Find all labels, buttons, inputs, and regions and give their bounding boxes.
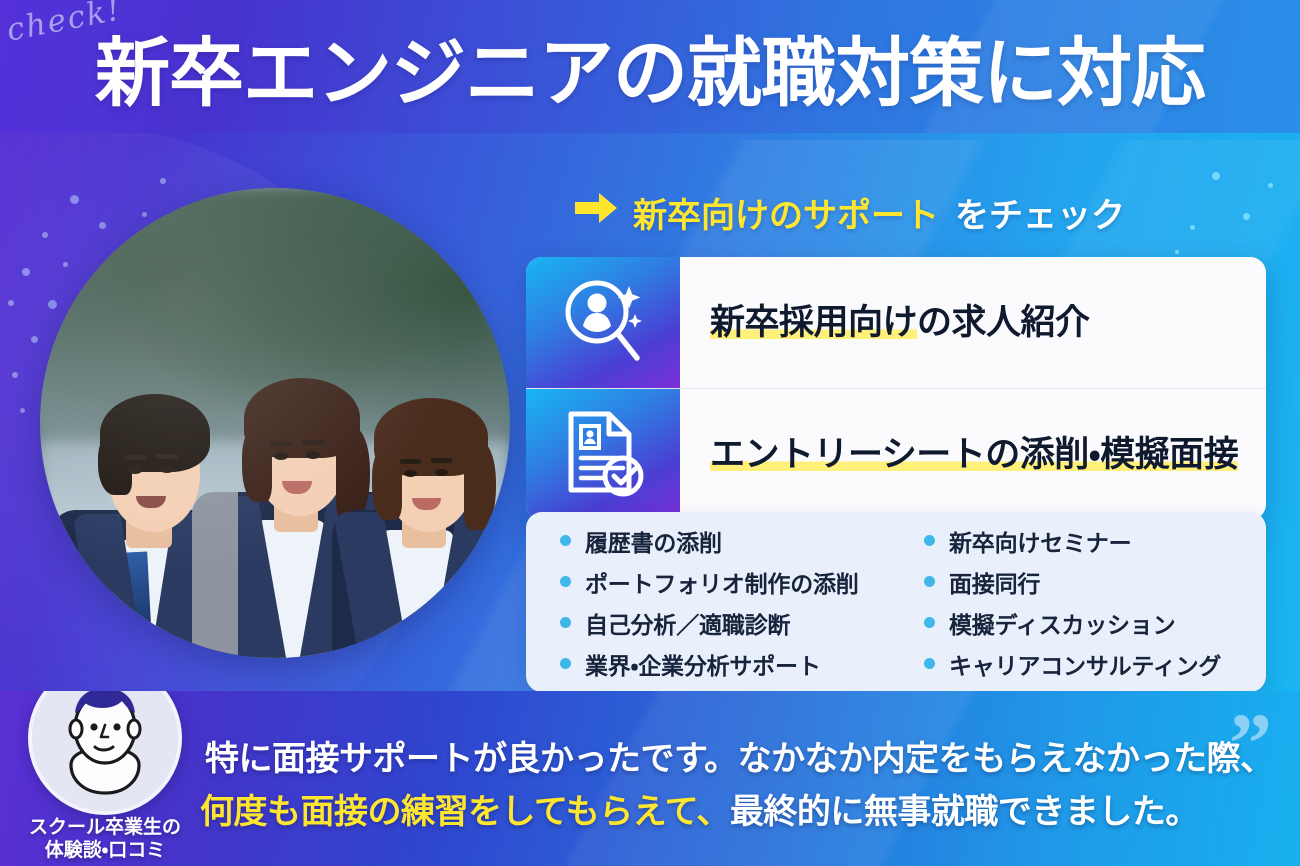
infographic-banner: check! 新卒エンジニアの就職対策に対応 新卒向けのサポート をチェック: [0, 0, 1300, 866]
header-band: check! 新卒エンジニアの就職対策に対応: [0, 0, 1300, 133]
testimonial-line-1: 特に面接サポートが良かったです。なかなか内定をもらえなかった際、: [205, 731, 1274, 780]
subtitle-highlight: 新卒向けのサポート: [633, 188, 939, 237]
list-item-label: キャリアコンサルティング: [949, 647, 1221, 681]
list-item-label: 業界・企業分析サポート: [585, 647, 821, 681]
card-icon-panel: [526, 257, 680, 388]
service-bullet-panel: 履歴書の添削 ポートフォリオ制作の添削 自己分析／適職診断 業界・企業分析サポー…: [526, 512, 1266, 692]
bullet-dot-icon: [560, 535, 571, 546]
card-title-highlight: エントリーシートの添削・模擬面接: [710, 435, 1238, 474]
list-item-label: 自己分析／適職診断: [585, 606, 790, 640]
list-item-label: ポートフォリオ制作の添削: [585, 565, 859, 599]
page-title: 新卒エンジニアの就職対策に対応: [0, 0, 1300, 133]
male-avatar-icon: [28, 691, 182, 815]
document-check-icon: [557, 406, 649, 503]
card-title-highlight: 新卒採用向け: [710, 303, 917, 342]
students-group-photo: [40, 188, 510, 658]
bullet-dot-icon: [924, 617, 935, 628]
subtitle-line: 新卒向けのサポート をチェック: [575, 188, 1125, 237]
arrow-right-icon: [575, 193, 617, 232]
card-body: エントリーシートの添削・模擬面接: [680, 389, 1266, 520]
bullet-column-left: 履歴書の添削 ポートフォリオ制作の添削 自己分析／適職診断 業界・企業分析サポー…: [526, 528, 902, 676]
testimonial-line1-text: 特に面接サポートが良かったです。なかなか内定をもらえなかった際、: [205, 741, 1274, 778]
testimonial-author: スクール卒業生の 体験談・口コミ: [22, 691, 188, 862]
bullet-dot-icon: [924, 658, 935, 669]
quotation-mark-icon: ”: [1229, 713, 1272, 773]
card-title: 新卒採用向けの求人紹介: [710, 302, 1090, 344]
list-item: 自己分析／適職診断: [560, 606, 902, 640]
testimonial-line-2: 何度も面接の練習をしてもらえて、最終的に無事就職できました。: [200, 784, 1199, 833]
list-item: 履歴書の添削: [560, 524, 902, 558]
bullet-dot-icon: [560, 658, 571, 669]
card-title: エントリーシートの添削・模擬面接: [710, 434, 1238, 476]
list-item-label: 履歴書の添削: [585, 524, 722, 558]
bullet-column-right: 新卒向けセミナー 面接同行 模擬ディスカッション キャリアコンサルティング: [902, 528, 1266, 676]
subtitle-plain: をチェック: [955, 188, 1125, 237]
feature-card[interactable]: 新卒採用向けの求人紹介: [526, 257, 1266, 388]
bullet-dot-icon: [560, 617, 571, 628]
list-item: 新卒向けセミナー: [924, 524, 1266, 558]
avatar-label-line1: スクール卒業生の: [22, 817, 188, 839]
list-item-label: 新卒向けセミナー: [949, 524, 1131, 558]
list-item: キャリアコンサルティング: [924, 647, 1266, 681]
testimonial-band: スクール卒業生の 体験談・口コミ 特に面接サポートが良かったです。なかなか内定を…: [0, 691, 1300, 866]
list-item-label: 模擬ディスカッション: [949, 606, 1175, 640]
card-title-rest: の求人紹介: [917, 303, 1090, 342]
feature-card[interactable]: エントリーシートの添削・模擬面接: [526, 388, 1266, 520]
person-search-icon: [557, 274, 649, 371]
list-item-label: 面接同行: [949, 565, 1040, 599]
testimonial-line2-text: 最終的に無事就職できました。: [730, 794, 1199, 831]
avatar-label: スクール卒業生の 体験談・口コミ: [22, 817, 188, 862]
list-item: 面接同行: [924, 565, 1266, 599]
photo-content: [40, 188, 510, 658]
testimonial-line2-highlight: 何度も面接の練習をしてもらえて、: [200, 794, 730, 831]
card-body: 新卒採用向けの求人紹介: [680, 257, 1266, 388]
list-item: ポートフォリオ制作の添削: [560, 565, 902, 599]
list-item: 業界・企業分析サポート: [560, 647, 902, 681]
avatar-label-line2: 体験談・口コミ: [22, 840, 188, 862]
card-icon-panel: [526, 389, 680, 520]
bullet-dot-icon: [560, 576, 571, 587]
bullet-dot-icon: [924, 535, 935, 546]
bullet-dot-icon: [924, 576, 935, 587]
feature-card-list: 新卒採用向けの求人紹介: [526, 257, 1266, 520]
list-item: 模擬ディスカッション: [924, 606, 1266, 640]
